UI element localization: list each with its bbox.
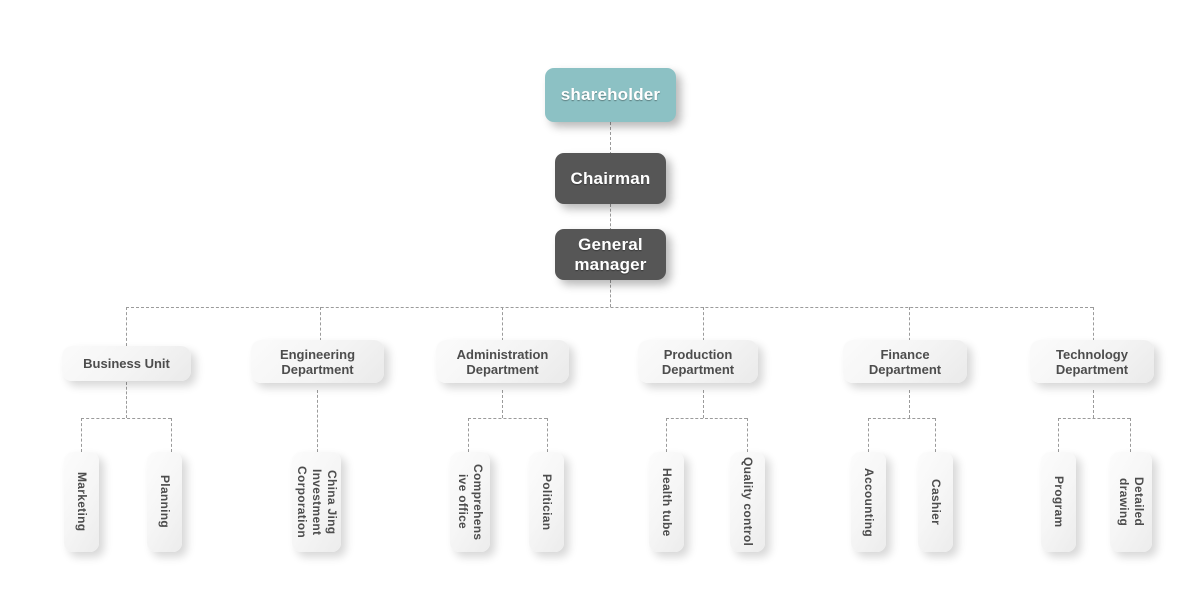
node-quality-control[interactable]: Quality control [730,452,765,552]
node-accounting[interactable]: Accounting [851,452,886,552]
node-chairman-label: Chairman [570,169,650,189]
connector-drop-quality-control [747,418,748,452]
node-chairman[interactable]: Chairman [555,153,666,204]
connector-drop-program [1058,418,1059,452]
node-technology-department-label: Technology Department [1050,347,1134,377]
node-health-tube-label: Health tube [659,468,674,537]
connector-administration-stem [502,390,503,418]
node-health-tube[interactable]: Health tube [649,452,684,552]
connector-shareholder-chairman [610,122,611,155]
node-china-jing-investment-corporation-label: China Jing Investment Corporation [294,466,339,538]
node-planning-label: Planning [157,475,172,528]
connector-technology-bus [1058,418,1130,419]
connector-production-bus [666,418,747,419]
node-general-manager[interactable]: General manager [555,229,666,280]
connector-drop-marketing [81,418,82,452]
node-production-department-label: Production Department [656,347,740,377]
node-comprehensive-office[interactable]: Comprehens ive office [450,452,490,552]
node-politician[interactable]: Politician [529,452,564,552]
node-business-unit-label: Business Unit [77,356,176,371]
connector-chairman-manager [610,204,611,231]
connector-drop-accounting [868,418,869,452]
connector-drop-business-unit [126,307,127,346]
connector-department-bus [126,307,1093,308]
connector-business-unit-bus [81,418,171,419]
node-detailed-drawing-label: Detailed drawing [1116,477,1146,526]
node-production-department[interactable]: Production Department [638,340,758,383]
node-planning[interactable]: Planning [147,452,182,552]
connector-technology-stem [1093,390,1094,418]
node-program-label: Program [1051,476,1066,527]
connector-manager-bus [610,280,611,307]
node-administration-department[interactable]: Administration Department [436,340,569,383]
node-quality-control-label: Quality control [740,457,755,546]
node-general-manager-label: General manager [574,235,646,275]
node-finance-department-label: Finance Department [863,347,947,377]
node-finance-department[interactable]: Finance Department [843,340,967,383]
node-shareholder[interactable]: shareholder [545,68,676,122]
connector-production-stem [703,390,704,418]
node-detailed-drawing[interactable]: Detailed drawing [1110,452,1152,552]
node-marketing-label: Marketing [74,472,89,531]
org-chart-canvas: shareholder Chairman General manager Bus… [0,0,1196,607]
node-marketing[interactable]: Marketing [64,452,99,552]
connector-drop-detailed-drawing [1130,418,1131,452]
connector-engineering-stem [317,390,318,452]
connector-drop-planning [171,418,172,452]
connector-finance-stem [909,390,910,418]
node-accounting-label: Accounting [861,468,876,537]
node-shareholder-label: shareholder [561,85,661,105]
node-business-unit[interactable]: Business Unit [62,346,191,381]
node-program[interactable]: Program [1041,452,1076,552]
node-comprehensive-office-label: Comprehens ive office [455,464,485,540]
connector-finance-bus [868,418,935,419]
node-cashier[interactable]: Cashier [918,452,953,552]
node-china-jing-investment-corporation[interactable]: China Jing Investment Corporation [292,452,341,552]
connector-business-unit-stem [126,382,127,418]
connector-drop-comprehensive-office [468,418,469,452]
node-politician-label: Politician [539,474,554,530]
connector-drop-cashier [935,418,936,452]
connector-administration-bus [468,418,547,419]
node-cashier-label: Cashier [928,479,943,525]
node-administration-department-label: Administration Department [451,347,555,377]
node-technology-department[interactable]: Technology Department [1030,340,1154,383]
connector-drop-politician [547,418,548,452]
connector-drop-health-tube [666,418,667,452]
node-engineering-department-label: Engineering Department [274,347,361,377]
node-engineering-department[interactable]: Engineering Department [251,340,384,383]
